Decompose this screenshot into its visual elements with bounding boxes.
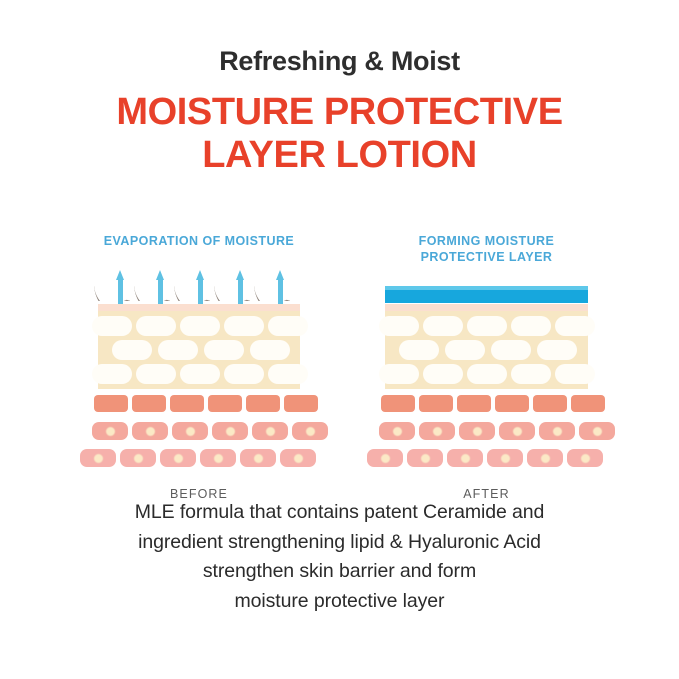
cell-nucleus — [226, 427, 235, 436]
granular-cell — [284, 395, 318, 412]
granular-cell — [571, 395, 605, 412]
evaporation-zone — [98, 270, 300, 304]
skin-flake-icon — [174, 286, 214, 301]
cell-nucleus — [294, 454, 303, 463]
evaporation-arrow-icon — [276, 270, 285, 304]
granular-cell — [381, 395, 415, 412]
granular-cell — [208, 395, 242, 412]
corneum-brick — [511, 316, 551, 336]
skin-cell — [539, 422, 575, 440]
description-line-2: ingredient strengthening lipid & Hyaluro… — [0, 528, 679, 558]
skin-cell — [459, 422, 495, 440]
corneum-brick — [467, 316, 507, 336]
before-skin-cross-section — [98, 270, 300, 471]
cell-nucleus — [134, 454, 143, 463]
protective-layer-bar — [385, 286, 588, 303]
header: Refreshing & Moist MOISTURE PROTECTIVE L… — [0, 0, 679, 176]
skin-cell — [132, 422, 168, 440]
moisture-protective-layer — [385, 270, 588, 304]
description-line-4: moisture protective layer — [0, 587, 679, 617]
skin-cell — [367, 449, 403, 467]
corneum-brick — [379, 316, 419, 336]
skin-flake-icon — [214, 286, 254, 301]
skin-cell — [407, 449, 443, 467]
skin-cell — [567, 449, 603, 467]
cell-nucleus — [473, 427, 482, 436]
granular-cell — [246, 395, 280, 412]
corneum-brick — [136, 364, 176, 384]
corneum-brick — [399, 340, 439, 360]
corneum-brick — [250, 340, 290, 360]
granular-layer — [98, 395, 300, 417]
cell-nucleus — [393, 427, 402, 436]
skin-flake-icon — [254, 286, 294, 301]
cell-nucleus — [214, 454, 223, 463]
skin-cell — [292, 422, 328, 440]
spinous-cell-row — [385, 422, 588, 444]
after-panel: FORMING MOISTURE PROTECTIVE LAYER — [385, 228, 588, 501]
corneum-brick — [136, 316, 176, 336]
cell-nucleus — [254, 454, 263, 463]
description-line-3: strengthen skin barrier and form — [0, 557, 679, 587]
corneum-brick-row — [98, 340, 300, 360]
basal-cell-row — [98, 449, 300, 471]
page-title: MOISTURE PROTECTIVE LAYER LOTION — [0, 91, 679, 176]
corneum-brick — [555, 364, 595, 384]
corneum-brick — [445, 340, 485, 360]
cell-nucleus — [381, 454, 390, 463]
comparison-diagram: EVAPORATION OF MOISTURE — [0, 228, 679, 468]
skin-cell — [172, 422, 208, 440]
skin-cell — [240, 449, 276, 467]
corneum-brick — [423, 364, 463, 384]
cell-nucleus — [541, 454, 550, 463]
corneum-brick — [268, 316, 308, 336]
description-line-1: MLE formula that contains patent Ceramid… — [0, 498, 679, 528]
before-panel: EVAPORATION OF MOISTURE — [98, 228, 300, 501]
skin-cell — [252, 422, 288, 440]
corneum-brick — [268, 364, 308, 384]
skin-flake-icon — [94, 286, 134, 301]
skin-flake-icon — [134, 286, 174, 301]
granular-layer — [385, 395, 588, 417]
granular-cell — [170, 395, 204, 412]
evaporation-arrow-icon — [116, 270, 125, 304]
cell-nucleus — [106, 427, 115, 436]
granular-cell — [533, 395, 567, 412]
cell-nucleus — [461, 454, 470, 463]
skin-cell — [527, 449, 563, 467]
corneum-brick-row — [385, 340, 588, 360]
corneum-brick — [555, 316, 595, 336]
skin-cell — [120, 449, 156, 467]
stratum-corneum-layer — [385, 311, 588, 389]
cell-nucleus — [581, 454, 590, 463]
corneum-brick — [423, 316, 463, 336]
skin-cell — [379, 422, 415, 440]
corneum-brick-row — [385, 316, 588, 336]
evaporation-arrow-icon — [156, 270, 165, 304]
corneum-brick — [180, 364, 220, 384]
cell-nucleus — [593, 427, 602, 436]
corneum-brick-row — [98, 316, 300, 336]
cell-nucleus — [433, 427, 442, 436]
headline-line-1: MOISTURE PROTECTIVE — [0, 91, 679, 134]
corneum-brick — [92, 316, 132, 336]
basal-cell-row — [385, 449, 588, 471]
skin-cell — [200, 449, 236, 467]
cell-nucleus — [266, 427, 275, 436]
corneum-brick — [467, 364, 507, 384]
granular-cell — [419, 395, 453, 412]
skin-cell — [487, 449, 523, 467]
cell-nucleus — [306, 427, 315, 436]
corneum-surface-band — [98, 304, 300, 311]
corneum-brick — [537, 340, 577, 360]
skin-cell — [280, 449, 316, 467]
corneum-brick-row — [385, 364, 588, 384]
description-paragraph: MLE formula that contains patent Ceramid… — [0, 498, 679, 617]
cell-nucleus — [94, 454, 103, 463]
corneum-brick-row — [98, 364, 300, 384]
corneum-brick — [92, 364, 132, 384]
cell-nucleus — [146, 427, 155, 436]
cell-nucleus — [501, 454, 510, 463]
corneum-surface-band — [385, 304, 588, 311]
skin-cell — [579, 422, 615, 440]
after-skin-cross-section — [385, 270, 588, 471]
corneum-brick — [224, 316, 264, 336]
evaporation-arrow-icon — [196, 270, 205, 304]
after-panel-label: FORMING MOISTURE PROTECTIVE LAYER — [385, 228, 588, 270]
granular-cell — [132, 395, 166, 412]
after-label-line-1: FORMING MOISTURE — [419, 234, 555, 248]
after-label-line-2: PROTECTIVE LAYER — [421, 250, 553, 264]
skin-cell — [80, 449, 116, 467]
granular-cell — [495, 395, 529, 412]
corneum-brick — [379, 364, 419, 384]
eyebrow-text: Refreshing & Moist — [0, 46, 679, 77]
skin-cell — [92, 422, 128, 440]
cell-nucleus — [513, 427, 522, 436]
spinous-cell-row — [98, 422, 300, 444]
granular-cell — [457, 395, 491, 412]
before-panel-label: EVAPORATION OF MOISTURE — [98, 228, 300, 270]
cell-nucleus — [174, 454, 183, 463]
skin-cell — [447, 449, 483, 467]
evaporation-arrow-icon — [236, 270, 245, 304]
stratum-corneum-layer — [98, 311, 300, 389]
granular-cell — [94, 395, 128, 412]
cell-nucleus — [421, 454, 430, 463]
skin-cell — [160, 449, 196, 467]
corneum-brick — [112, 340, 152, 360]
infographic-page: Refreshing & Moist MOISTURE PROTECTIVE L… — [0, 0, 679, 679]
corneum-brick — [204, 340, 244, 360]
corneum-brick — [491, 340, 531, 360]
skin-cell — [419, 422, 455, 440]
before-label-line-1: EVAPORATION OF MOISTURE — [104, 234, 294, 248]
corneum-brick — [158, 340, 198, 360]
corneum-brick — [180, 316, 220, 336]
corneum-brick — [511, 364, 551, 384]
cell-nucleus — [186, 427, 195, 436]
headline-line-2: LAYER LOTION — [0, 134, 679, 177]
corneum-brick — [224, 364, 264, 384]
skin-cell — [499, 422, 535, 440]
skin-cell — [212, 422, 248, 440]
cell-nucleus — [553, 427, 562, 436]
